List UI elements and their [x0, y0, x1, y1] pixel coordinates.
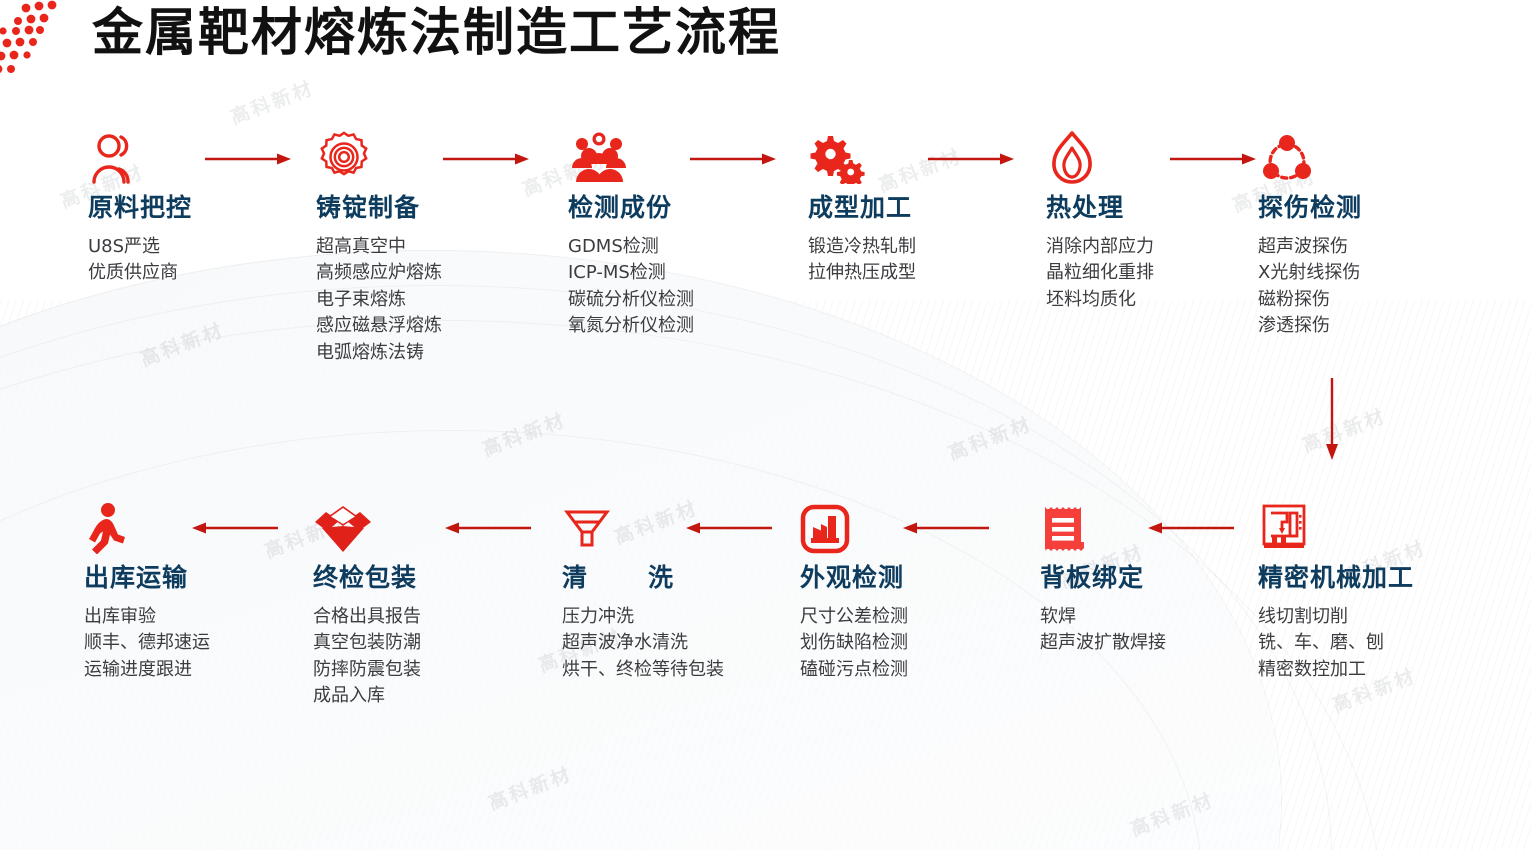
flow-step-precision-machining[interactable]: 精密机械加工 线切割切削 铣、车、磨、刨 精密数控加工	[1258, 498, 1478, 683]
step-detail-line: 磕碰污点检测	[800, 657, 1020, 684]
step-title: 背板绑定	[1040, 564, 1260, 592]
molecule-icon	[1258, 128, 1478, 184]
flow-step-final-inspection-packaging[interactable]: 终检包装 合格出具报告 真空包装防潮 防摔防震包装 成品入库	[313, 498, 533, 710]
watermark: 高科新材	[944, 409, 1036, 466]
step-title: 铸锭制备	[316, 194, 536, 222]
flow-step-appearance-inspection[interactable]: 外观检测 尺寸公差检测 划伤缺陷检测 磕碰污点检测	[800, 498, 1020, 683]
flow-step-ingot-preparation[interactable]: 铸锭制备 超高真空中 高频感应炉熔炼 电子束熔炼 感应磁悬浮熔炼 电弧熔炼法铸	[316, 128, 536, 367]
flow-step-cleaning[interactable]: 清 洗 压力冲洗 超声波净水清洗 烘干、终检等待包装	[562, 498, 782, 683]
step-detail-line: 锻造冷热轧制	[808, 234, 1028, 261]
step-detail-line: ICP-MS检测	[568, 260, 788, 287]
step-title: 热处理	[1046, 194, 1266, 222]
step-detail-line: 精密数控加工	[1258, 657, 1478, 684]
step-detail-line: 顺丰、德邦速运	[84, 630, 304, 657]
step-detail-line: 电弧熔炼法铸	[316, 340, 536, 367]
step-detail-line: 超声波扩散焊接	[1040, 630, 1260, 657]
step-detail-line: 氧氮分析仪检测	[568, 313, 788, 340]
step-detail-line: 防摔防震包装	[313, 657, 533, 684]
step-title: 成型加工	[808, 194, 1028, 222]
step-title: 探伤检测	[1258, 194, 1478, 222]
factory-badge-icon	[800, 498, 1020, 554]
receipt-icon	[1040, 498, 1260, 554]
step-detail-line: 电子束熔炼	[316, 287, 536, 314]
gear-target-icon	[316, 128, 536, 184]
step-title: 出库运输	[84, 564, 304, 592]
step-title: 清 洗	[562, 564, 782, 592]
step-detail-list: 合格出具报告 真空包装防潮 防摔防震包装 成品入库	[313, 604, 533, 711]
step-title: 终检包装	[313, 564, 533, 592]
group-people-icon	[568, 128, 788, 184]
step-detail-line: 划伤缺陷检测	[800, 630, 1020, 657]
watermark: 高科新材	[484, 759, 576, 816]
step-detail-line: 运输进度跟进	[84, 657, 304, 684]
step-detail-line: 磁粉探伤	[1258, 287, 1478, 314]
step-detail-line: 坯料均质化	[1046, 287, 1266, 314]
step-detail-line: 成品入库	[313, 683, 533, 710]
step-detail-line: 线切割切削	[1258, 604, 1478, 631]
step-detail-line: 碳硫分析仪检测	[568, 287, 788, 314]
step-detail-line: 超高真空中	[316, 234, 536, 261]
users-icon	[88, 128, 308, 184]
flow-step-forming-processing[interactable]: 成型加工 锻造冷热轧制 拉伸热压成型	[808, 128, 1028, 287]
flow-step-backplate-bonding[interactable]: 背板绑定 软焊 超声波扩散焊接	[1040, 498, 1260, 657]
cnc-machine-icon	[1258, 498, 1478, 554]
step-detail-list: U8S严选 优质供应商	[88, 234, 308, 287]
step-detail-list: GDMS检测 ICP-MS检测 碳硫分析仪检测 氧氮分析仪检测	[568, 234, 788, 341]
step-detail-line: 超声波探伤	[1258, 234, 1478, 261]
flow-step-raw-material-control[interactable]: 原料把控 U8S严选 优质供应商	[88, 128, 308, 287]
step-detail-line: 超声波净水清洗	[562, 630, 730, 657]
step-detail-list: 出库审验 顺丰、德邦速运 运输进度跟进	[84, 604, 304, 684]
step-detail-line: 压力冲洗	[562, 604, 730, 631]
walking-person-icon	[84, 498, 304, 554]
step-detail-line: 出库审验	[84, 604, 304, 631]
step-detail-list: 尺寸公差检测 划伤缺陷检测 磕碰污点检测	[800, 604, 1020, 684]
open-box-icon	[313, 498, 533, 554]
step-detail-list: 超高真空中 高频感应炉熔炼 电子束熔炼 感应磁悬浮熔炼 电弧熔炼法铸	[316, 234, 536, 367]
step-detail-line: 尺寸公差检测	[800, 604, 1020, 631]
flow-step-flaw-detection[interactable]: 探伤检测 超声波探伤 X光射线探伤 磁粉探伤 渗透探伤	[1258, 128, 1478, 340]
step-detail-line: 渗透探伤	[1258, 313, 1478, 340]
funnel-icon	[562, 498, 782, 554]
step-detail-line: 高频感应炉熔炼	[316, 260, 536, 287]
step-detail-list: 软焊 超声波扩散焊接	[1040, 604, 1260, 657]
step-detail-line: 真空包装防潮	[313, 630, 533, 657]
step-detail-line: 合格出具报告	[313, 604, 533, 631]
watermark: 高科新材	[136, 315, 228, 372]
step-detail-line: 烘干、终检等待包装	[562, 657, 730, 684]
step-detail-line: X光射线探伤	[1258, 260, 1478, 287]
step-detail-line: 铣、车、磨、刨	[1258, 630, 1478, 657]
watermark: 高科新材	[1298, 401, 1390, 458]
step-detail-line: U8S严选	[88, 234, 308, 261]
flow-step-outbound-transport[interactable]: 出库运输 出库审验 顺丰、德邦速运 运输进度跟进	[84, 498, 304, 683]
flow-step-heat-treatment[interactable]: 热处理 消除内部应力 晶粒细化重排 坯料均质化	[1046, 128, 1266, 313]
watermark: 高科新材	[226, 73, 318, 130]
step-detail-list: 消除内部应力 晶粒细化重排 坯料均质化	[1046, 234, 1266, 314]
flame-icon	[1046, 128, 1266, 184]
step-detail-line: 感应磁悬浮熔炼	[316, 313, 536, 340]
step-title: 精密机械加工	[1258, 564, 1478, 592]
watermark: 高科新材	[1126, 785, 1218, 842]
step-title: 原料把控	[88, 194, 308, 222]
gears-icon	[808, 128, 1028, 184]
page-title: 金属靶材熔炼法制造工艺流程	[92, 2, 781, 66]
step-detail-list: 锻造冷热轧制 拉伸热压成型	[808, 234, 1028, 287]
step-detail-line: 优质供应商	[88, 260, 308, 287]
step-detail-line: 消除内部应力	[1046, 234, 1266, 261]
step-detail-list: 压力冲洗 超声波净水清洗 烘干、终检等待包装	[562, 604, 730, 684]
step-detail-list: 线切割切削 铣、车、磨、刨 精密数控加工	[1258, 604, 1478, 684]
step-detail-line: 拉伸热压成型	[808, 260, 1028, 287]
step-detail-list: 超声波探伤 X光射线探伤 磁粉探伤 渗透探伤	[1258, 234, 1478, 341]
step-title: 检测成份	[568, 194, 788, 222]
step-detail-line: GDMS检测	[568, 234, 788, 261]
watermark: 高科新材	[478, 405, 570, 462]
step-title: 外观检测	[800, 564, 1020, 592]
flow-arrow-down	[1324, 378, 1340, 460]
flow-step-composition-testing[interactable]: 检测成份 GDMS检测 ICP-MS检测 碳硫分析仪检测 氧氮分析仪检测	[568, 128, 788, 340]
step-detail-line: 晶粒细化重排	[1046, 260, 1266, 287]
step-detail-line: 软焊	[1040, 604, 1260, 631]
